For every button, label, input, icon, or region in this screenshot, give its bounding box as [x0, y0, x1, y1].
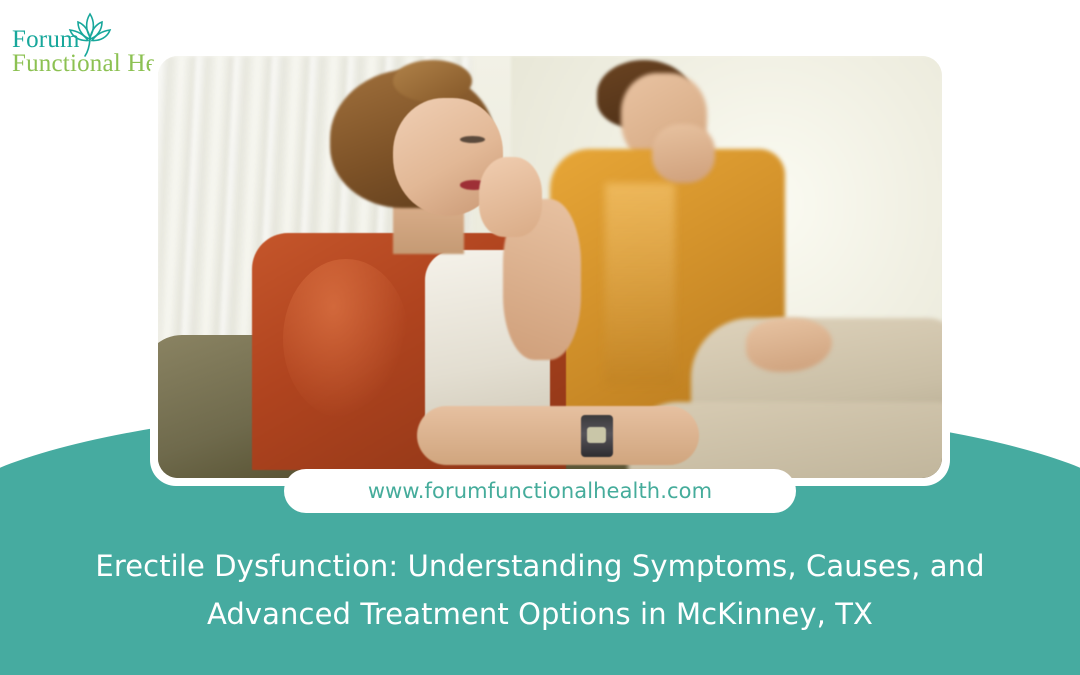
photo-woman-eye — [460, 136, 485, 143]
photo-man-hand-chin — [652, 124, 715, 183]
social-post-canvas: Forum Functional Health — [0, 0, 1080, 675]
logo-word-forum: Forum — [12, 27, 80, 52]
website-url-text: www.forumfunctionalhealth.com — [368, 479, 712, 503]
hero-photo-card — [150, 48, 950, 486]
photo-woman-hand — [479, 157, 542, 237]
photo-woman-forearm — [417, 406, 699, 465]
photo-woman-watch-face — [587, 427, 606, 442]
post-title-line-2: Advanced Treatment Options in McKinney, … — [60, 590, 1020, 638]
photo-woman-shirt-highlight — [283, 259, 408, 419]
photo-man-shirt-fold — [605, 183, 676, 386]
hero-photo — [158, 56, 942, 478]
website-url-pill[interactable]: www.forumfunctionalhealth.com — [284, 469, 796, 513]
post-title: Erectile Dysfunction: Understanding Symp… — [60, 542, 1020, 638]
photo-woman-bun — [393, 60, 471, 102]
post-title-line-1: Erectile Dysfunction: Understanding Symp… — [60, 542, 1020, 590]
